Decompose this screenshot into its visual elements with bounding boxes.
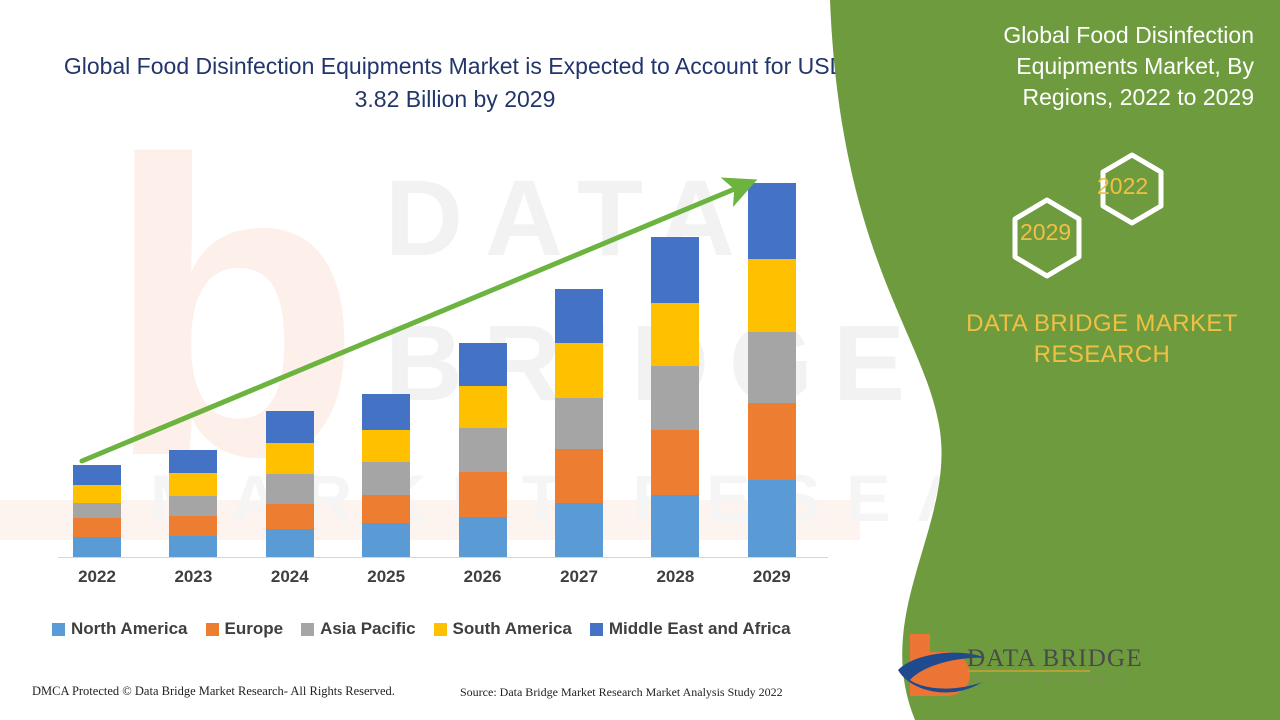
- bar-segment: [73, 503, 121, 519]
- bar-2029: [748, 183, 796, 557]
- legend-item[interactable]: Asia Pacific: [301, 619, 415, 639]
- bar-2028: [651, 237, 699, 557]
- bar-segment: [73, 537, 121, 557]
- hexagon-start-label: 2022: [1097, 173, 1148, 200]
- legend-label: Middle East and Africa: [609, 619, 791, 639]
- legend-label: South America: [453, 619, 572, 639]
- legend-label: Asia Pacific: [320, 619, 415, 639]
- legend-swatch: [52, 623, 65, 636]
- bar-segment: [169, 473, 217, 496]
- legend-item[interactable]: Middle East and Africa: [590, 619, 791, 639]
- bar-segment: [362, 523, 410, 557]
- bar-segment: [459, 428, 507, 472]
- bar-segment: [169, 496, 217, 516]
- footer-source-note: Source: Data Bridge Market Research Mark…: [460, 685, 783, 700]
- x-axis-labels: 20222023202420252026202720282029: [0, 567, 860, 595]
- bar-segment: [266, 443, 314, 474]
- panel-title: Global Food Disinfection Equipments Mark…: [924, 20, 1254, 113]
- bar-segment: [651, 303, 699, 365]
- bar-segment: [362, 394, 410, 430]
- brand-name: DATA BRIDGE MARKET RESEARCH: [952, 308, 1252, 370]
- bar-segment: [555, 289, 603, 343]
- bar-segment: [459, 386, 507, 427]
- bar-segment: [555, 449, 603, 502]
- bar-segment: [266, 474, 314, 504]
- bar-segment: [266, 504, 314, 530]
- x-axis-label-2029: 2029: [742, 567, 802, 587]
- legend-item[interactable]: North America: [52, 619, 188, 639]
- bar-segment: [266, 529, 314, 557]
- bar-2025: [362, 394, 410, 557]
- logo-divider: [968, 670, 1090, 672]
- bar-segment: [651, 366, 699, 430]
- bar-segment: [555, 398, 603, 449]
- bar-segment: [651, 495, 699, 557]
- logo-wordmark: DATA BRIDGE: [967, 645, 1143, 673]
- bar-2027: [555, 289, 603, 557]
- bar-2022: [73, 465, 121, 557]
- legend-item[interactable]: Europe: [206, 619, 284, 639]
- bar-segment: [651, 237, 699, 303]
- legend-label: North America: [71, 619, 188, 639]
- logo-tagline: MARKET RESEARCH: [970, 674, 1132, 684]
- bar-segment: [555, 503, 603, 557]
- bar-segment: [748, 332, 796, 403]
- bar-segment: [362, 430, 410, 463]
- legend-swatch: [301, 623, 314, 636]
- bar-segment: [748, 403, 796, 480]
- infographic-canvas: b DATA BRIDGE MARKET RESEARCH Global Foo…: [0, 0, 1280, 720]
- footer-dmca-notice: DMCA Protected © Data Bridge Market Rese…: [32, 684, 395, 699]
- bar-segment: [748, 259, 796, 332]
- bar-2026: [459, 343, 507, 557]
- chart-legend: North AmericaEuropeAsia PacificSouth Ame…: [52, 617, 809, 641]
- bar-2024: [266, 411, 314, 557]
- x-axis-label-2028: 2028: [645, 567, 705, 587]
- x-axis-label-2024: 2024: [260, 567, 320, 587]
- bar-segment: [73, 518, 121, 537]
- bar-segment: [73, 465, 121, 485]
- bar-segment: [169, 536, 217, 557]
- bar-segment: [362, 462, 410, 495]
- bar-segment: [459, 343, 507, 386]
- bar-segment: [748, 183, 796, 259]
- bar-2023: [169, 450, 217, 557]
- bar-segment: [169, 516, 217, 537]
- bar-segment: [266, 411, 314, 444]
- x-axis-label-2025: 2025: [356, 567, 416, 587]
- legend-swatch: [434, 623, 447, 636]
- bar-segment: [459, 517, 507, 557]
- legend-item[interactable]: South America: [434, 619, 572, 639]
- bar-segment: [362, 495, 410, 524]
- x-axis-label-2026: 2026: [453, 567, 513, 587]
- x-axis-label-2027: 2027: [549, 567, 609, 587]
- bar-segment: [555, 343, 603, 398]
- bar-segment: [459, 472, 507, 516]
- bar-segment: [73, 485, 121, 503]
- bar-segment: [748, 480, 796, 557]
- legend-label: Europe: [225, 619, 284, 639]
- x-axis-line: [58, 557, 828, 558]
- chart-plot-area: 20222023202420252026202720282029: [0, 0, 860, 600]
- bar-segment: [651, 430, 699, 495]
- x-axis-label-2023: 2023: [163, 567, 223, 587]
- bar-segment: [169, 450, 217, 473]
- hexagon-badges: [985, 140, 1185, 280]
- x-axis-label-2022: 2022: [67, 567, 127, 587]
- hexagon-end-label: 2029: [1020, 219, 1071, 246]
- legend-swatch: [206, 623, 219, 636]
- growth-arrow: [0, 0, 860, 600]
- legend-swatch: [590, 623, 603, 636]
